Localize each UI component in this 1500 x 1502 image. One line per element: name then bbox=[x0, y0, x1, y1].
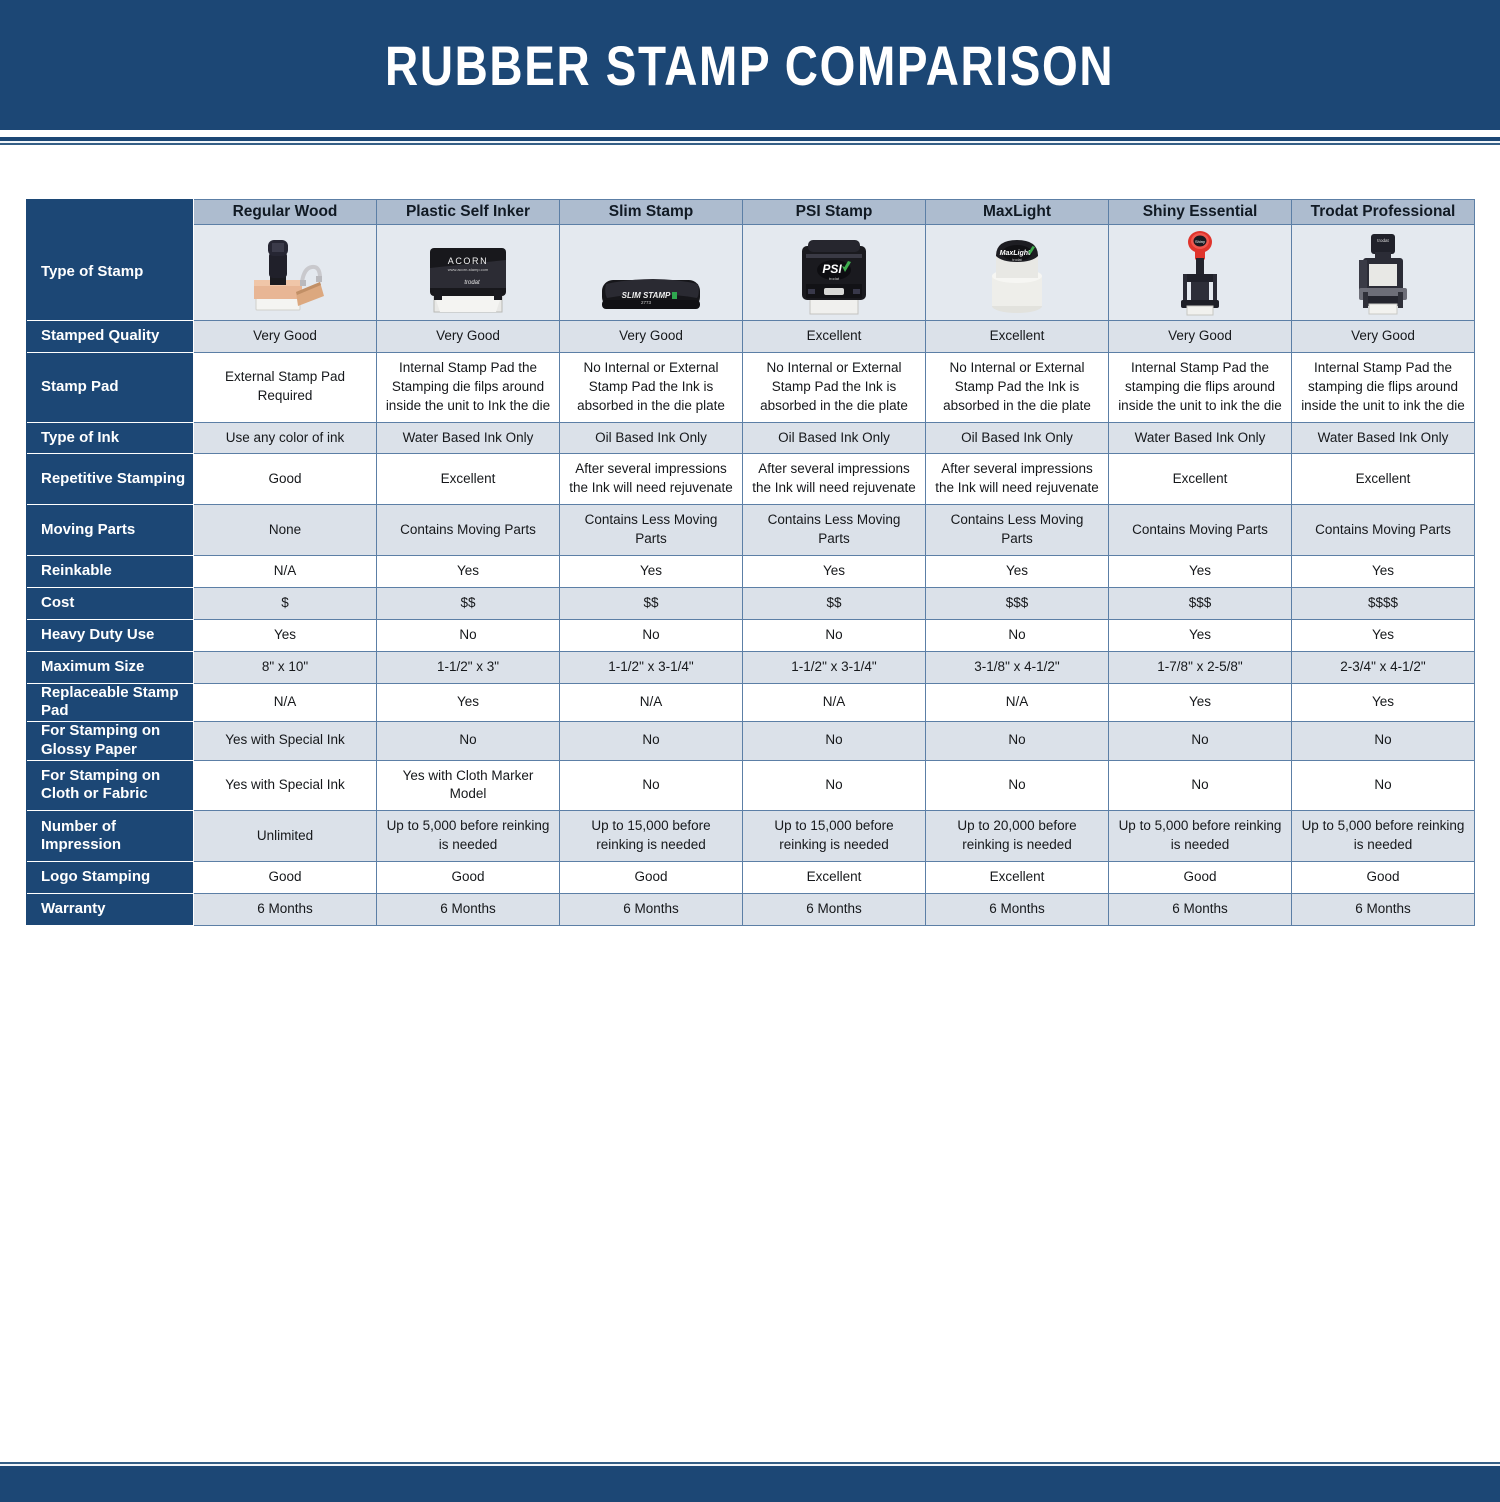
product-image-cell: ACORN www.acorn-stamp.com trodat bbox=[377, 225, 560, 321]
cell-type-of-ink-1: Water Based Ink Only bbox=[377, 422, 560, 454]
cell-for-stamping-on-cloth-or-fabric-4: No bbox=[926, 760, 1109, 811]
acorn-self-inker-icon: ACORN www.acorn-stamp.com trodat bbox=[422, 238, 514, 318]
cell-stamped-quality-6: Very Good bbox=[1292, 321, 1475, 353]
cell-for-stamping-on-glossy-paper-6: No bbox=[1292, 722, 1475, 761]
cell-for-stamping-on-glossy-paper-3: No bbox=[743, 722, 926, 761]
cell-warranty-5: 6 Months bbox=[1109, 894, 1292, 926]
maxlight-round-stamp-icon: MaxLight trodat bbox=[928, 228, 1106, 318]
acorn-self-inker-icon: ACORN www.acorn-stamp.com trodat bbox=[379, 228, 557, 318]
cell-cost-2: $$ bbox=[560, 587, 743, 619]
row-label-logo-stamping: Logo Stamping bbox=[27, 862, 194, 894]
cell-type-of-ink-6: Water Based Ink Only bbox=[1292, 422, 1475, 454]
cell-number-of-impression-6: Up to 5,000 before reinking is needed bbox=[1292, 811, 1475, 862]
table-row-number-of-impression: Number of ImpressionUnlimitedUp to 5,000… bbox=[27, 811, 1475, 862]
cell-replaceable-stamp-pad-2: N/A bbox=[560, 683, 743, 722]
cell-repetitive-stamping-3: After several impressions the Ink will n… bbox=[743, 454, 926, 505]
cell-maximum-size-1: 1-1/2" x 3" bbox=[377, 651, 560, 683]
cell-stamp-pad-5: Internal Stamp Pad the stamping die flip… bbox=[1109, 352, 1292, 422]
cell-number-of-impression-2: Up to 15,000 before reinking is needed bbox=[560, 811, 743, 862]
product-image-cell: PSI trodat bbox=[743, 225, 926, 321]
cell-number-of-impression-5: Up to 5,000 before reinking is needed bbox=[1109, 811, 1292, 862]
product-image-cell bbox=[194, 225, 377, 321]
product-image-cell: Shiny bbox=[1109, 225, 1292, 321]
cell-for-stamping-on-cloth-or-fabric-6: No bbox=[1292, 760, 1475, 811]
svg-text:www.acorn-stamp.com: www.acorn-stamp.com bbox=[448, 267, 489, 272]
product-image-cell: trodat bbox=[1292, 225, 1475, 321]
cell-warranty-0: 6 Months bbox=[194, 894, 377, 926]
table-row-for-stamping-on-glossy-paper: For Stamping on Glossy PaperYes with Spe… bbox=[27, 722, 1475, 761]
table-row-stamp-pad: Stamp PadExternal Stamp Pad RequiredInte… bbox=[27, 352, 1475, 422]
cell-repetitive-stamping-2: After several impressions the Ink will n… bbox=[560, 454, 743, 505]
table-row-logo-stamping: Logo StampingGoodGoodGoodExcellentExcell… bbox=[27, 862, 1475, 894]
row-label-stamp-pad: Stamp Pad bbox=[27, 352, 194, 422]
table-row-repetitive-stamping: Repetitive StampingGoodExcellentAfter se… bbox=[27, 454, 1475, 505]
column-header-maxlight: MaxLight bbox=[926, 200, 1109, 225]
cell-type-of-ink-3: Oil Based Ink Only bbox=[743, 422, 926, 454]
cell-logo-stamping-1: Good bbox=[377, 862, 560, 894]
cell-maximum-size-2: 1-1/2" x 3-1/4" bbox=[560, 651, 743, 683]
column-header-regular-wood: Regular Wood bbox=[194, 200, 377, 225]
row-label-type-of-stamp: Type of Stamp bbox=[27, 225, 194, 321]
cell-for-stamping-on-cloth-or-fabric-2: No bbox=[560, 760, 743, 811]
slim-stamp-icon: SLIM STAMP 2773 bbox=[596, 264, 706, 318]
cell-logo-stamping-6: Good bbox=[1292, 862, 1475, 894]
table-row-stamped-quality: Stamped QualityVery GoodVery GoodVery Go… bbox=[27, 321, 1475, 353]
cell-for-stamping-on-cloth-or-fabric-5: No bbox=[1109, 760, 1292, 811]
cell-heavy-duty-use-4: No bbox=[926, 619, 1109, 651]
cell-cost-0: $ bbox=[194, 587, 377, 619]
cell-moving-parts-1: Contains Moving Parts bbox=[377, 505, 560, 556]
table-row-cost: Cost$$$$$$$$$$$$$$$$$ bbox=[27, 587, 1475, 619]
cell-moving-parts-2: Contains Less Moving Parts bbox=[560, 505, 743, 556]
table-row-for-stamping-on-cloth-or-fabric: For Stamping on Cloth or FabricYes with … bbox=[27, 760, 1475, 811]
cell-logo-stamping-4: Excellent bbox=[926, 862, 1109, 894]
cell-cost-4: $$$ bbox=[926, 587, 1109, 619]
cell-heavy-duty-use-5: Yes bbox=[1109, 619, 1292, 651]
row-label-number-of-impression: Number of Impression bbox=[27, 811, 194, 862]
product-image-cell: SLIM STAMP 2773 bbox=[560, 225, 743, 321]
svg-text:trodat: trodat bbox=[464, 280, 480, 286]
cell-number-of-impression-0: Unlimited bbox=[194, 811, 377, 862]
svg-text:trodat: trodat bbox=[829, 276, 840, 281]
svg-text:trodat: trodat bbox=[1012, 258, 1021, 262]
table-row-warranty: Warranty6 Months6 Months6 Months6 Months… bbox=[27, 894, 1475, 926]
svg-text:2773: 2773 bbox=[641, 300, 652, 305]
cell-type-of-ink-2: Oil Based Ink Only bbox=[560, 422, 743, 454]
cell-heavy-duty-use-6: Yes bbox=[1292, 619, 1475, 651]
cell-repetitive-stamping-1: Excellent bbox=[377, 454, 560, 505]
cell-stamp-pad-1: Internal Stamp Pad the Stamping die filp… bbox=[377, 352, 560, 422]
cell-heavy-duty-use-2: No bbox=[560, 619, 743, 651]
svg-text:MaxLight: MaxLight bbox=[1000, 250, 1031, 257]
cell-maximum-size-6: 2-3/4" x 4-1/2" bbox=[1292, 651, 1475, 683]
page-footer-bar bbox=[0, 1470, 1500, 1502]
cell-maximum-size-0: 8" x 10" bbox=[194, 651, 377, 683]
table-row-moving-parts: Moving PartsNoneContains Moving PartsCon… bbox=[27, 505, 1475, 556]
cell-stamped-quality-1: Very Good bbox=[377, 321, 560, 353]
cell-for-stamping-on-cloth-or-fabric-0: Yes with Special Ink bbox=[194, 760, 377, 811]
cell-logo-stamping-2: Good bbox=[560, 862, 743, 894]
corner-header-cell bbox=[27, 200, 194, 225]
row-label-moving-parts: Moving Parts bbox=[27, 505, 194, 556]
cell-stamped-quality-5: Very Good bbox=[1109, 321, 1292, 353]
cell-replaceable-stamp-pad-6: Yes bbox=[1292, 683, 1475, 722]
svg-text:ACORN: ACORN bbox=[448, 256, 489, 266]
cell-warranty-6: 6 Months bbox=[1292, 894, 1475, 926]
shiny-essential-stamp-icon: Shiny bbox=[1169, 230, 1231, 318]
product-image-cell: MaxLight trodat bbox=[926, 225, 1109, 321]
trodat-professional-stamp-icon: trodat bbox=[1294, 228, 1472, 318]
row-label-type-of-ink: Type of Ink bbox=[27, 422, 194, 454]
stamp-comparison-table: Regular WoodPlastic Self InkerSlim Stamp… bbox=[26, 199, 1475, 926]
row-label-stamped-quality: Stamped Quality bbox=[27, 321, 194, 353]
cell-reinkable-1: Yes bbox=[377, 556, 560, 588]
cell-moving-parts-6: Contains Moving Parts bbox=[1292, 505, 1475, 556]
cell-moving-parts-5: Contains Moving Parts bbox=[1109, 505, 1292, 556]
psi-stamp-icon: PSI trodat bbox=[745, 228, 923, 318]
column-header-plastic-self-inker: Plastic Self Inker bbox=[377, 200, 560, 225]
cell-stamp-pad-2: No Internal or External Stamp Pad the In… bbox=[560, 352, 743, 422]
cell-warranty-4: 6 Months bbox=[926, 894, 1109, 926]
cell-heavy-duty-use-1: No bbox=[377, 619, 560, 651]
cell-replaceable-stamp-pad-4: N/A bbox=[926, 683, 1109, 722]
row-label-maximum-size: Maximum Size bbox=[27, 651, 194, 683]
cell-for-stamping-on-glossy-paper-4: No bbox=[926, 722, 1109, 761]
cell-moving-parts-0: None bbox=[194, 505, 377, 556]
cell-reinkable-6: Yes bbox=[1292, 556, 1475, 588]
shiny-essential-stamp-icon: Shiny bbox=[1111, 228, 1289, 318]
cell-logo-stamping-0: Good bbox=[194, 862, 377, 894]
cell-stamped-quality-2: Very Good bbox=[560, 321, 743, 353]
trodat-professional-stamp-icon: trodat bbox=[1345, 230, 1421, 318]
cell-warranty-3: 6 Months bbox=[743, 894, 926, 926]
cell-number-of-impression-1: Up to 5,000 before reinking is needed bbox=[377, 811, 560, 862]
row-label-for-stamping-on-cloth-or-fabric: For Stamping on Cloth or Fabric bbox=[27, 760, 194, 811]
cell-replaceable-stamp-pad-1: Yes bbox=[377, 683, 560, 722]
cell-maximum-size-4: 3-1/8" x 4-1/2" bbox=[926, 651, 1109, 683]
column-header-psi-stamp: PSI Stamp bbox=[743, 200, 926, 225]
cell-stamp-pad-4: No Internal or External Stamp Pad the In… bbox=[926, 352, 1109, 422]
maxlight-round-stamp-icon: MaxLight trodat bbox=[978, 232, 1056, 318]
cell-stamp-pad-3: No Internal or External Stamp Pad the In… bbox=[743, 352, 926, 422]
cell-for-stamping-on-glossy-paper-5: No bbox=[1109, 722, 1292, 761]
cell-logo-stamping-5: Good bbox=[1109, 862, 1292, 894]
cell-maximum-size-5: 1-7/8" x 2-5/8" bbox=[1109, 651, 1292, 683]
cell-maximum-size-3: 1-1/2" x 3-1/4" bbox=[743, 651, 926, 683]
header-rule-gap bbox=[0, 130, 1500, 137]
cell-cost-3: $$ bbox=[743, 587, 926, 619]
cell-reinkable-4: Yes bbox=[926, 556, 1109, 588]
cell-reinkable-2: Yes bbox=[560, 556, 743, 588]
cell-cost-1: $$ bbox=[377, 587, 560, 619]
cell-warranty-1: 6 Months bbox=[377, 894, 560, 926]
column-header-shiny-essential: Shiny Essential bbox=[1109, 200, 1292, 225]
table-row-type-of-stamp: Type of Stamp ACORN www.acorn-stamp.com … bbox=[27, 225, 1475, 321]
cell-replaceable-stamp-pad-5: Yes bbox=[1109, 683, 1292, 722]
cell-stamped-quality-4: Excellent bbox=[926, 321, 1109, 353]
page-header-bar: RUBBER STAMP COMPARISON bbox=[0, 0, 1500, 130]
slim-stamp-icon: SLIM STAMP 2773 bbox=[562, 228, 740, 318]
table-row-replaceable-stamp-pad: Replaceable Stamp PadN/AYesN/AN/AN/AYesY… bbox=[27, 683, 1475, 722]
cell-replaceable-stamp-pad-0: N/A bbox=[194, 683, 377, 722]
cell-repetitive-stamping-0: Good bbox=[194, 454, 377, 505]
cell-moving-parts-4: Contains Less Moving Parts bbox=[926, 505, 1109, 556]
cell-for-stamping-on-glossy-paper-1: No bbox=[377, 722, 560, 761]
row-label-repetitive-stamping: Repetitive Stamping bbox=[27, 454, 194, 505]
cell-repetitive-stamping-6: Excellent bbox=[1292, 454, 1475, 505]
page-title: RUBBER STAMP COMPARISON bbox=[385, 33, 1114, 98]
cell-stamp-pad-0: External Stamp Pad Required bbox=[194, 352, 377, 422]
cell-stamp-pad-6: Internal Stamp Pad the stamping die flip… bbox=[1292, 352, 1475, 422]
cell-replaceable-stamp-pad-3: N/A bbox=[743, 683, 926, 722]
svg-text:SLIM STAMP: SLIM STAMP bbox=[622, 291, 671, 300]
wood-handle-stamp-icon bbox=[244, 232, 326, 318]
cell-stamped-quality-3: Excellent bbox=[743, 321, 926, 353]
svg-text:Shiny: Shiny bbox=[1195, 239, 1205, 244]
table-header-row: Regular WoodPlastic Self InkerSlim Stamp… bbox=[27, 200, 1475, 225]
cell-reinkable-5: Yes bbox=[1109, 556, 1292, 588]
table-row-type-of-ink: Type of InkUse any color of inkWater Bas… bbox=[27, 422, 1475, 454]
row-label-reinkable: Reinkable bbox=[27, 556, 194, 588]
svg-text:PSI: PSI bbox=[822, 262, 842, 276]
column-header-slim-stamp: Slim Stamp bbox=[560, 200, 743, 225]
cell-cost-5: $$$ bbox=[1109, 587, 1292, 619]
column-header-trodat-professional: Trodat Professional bbox=[1292, 200, 1475, 225]
psi-stamp-icon: PSI trodat bbox=[794, 234, 874, 318]
cell-type-of-ink-5: Water Based Ink Only bbox=[1109, 422, 1292, 454]
cell-for-stamping-on-glossy-paper-2: No bbox=[560, 722, 743, 761]
row-label-warranty: Warranty bbox=[27, 894, 194, 926]
cell-type-of-ink-0: Use any color of ink bbox=[194, 422, 377, 454]
table-row-heavy-duty-use: Heavy Duty UseYesNoNoNoNoYesYes bbox=[27, 619, 1475, 651]
cell-number-of-impression-3: Up to 15,000 before reinking is needed bbox=[743, 811, 926, 862]
svg-text:trodat: trodat bbox=[1377, 238, 1389, 243]
cell-for-stamping-on-cloth-or-fabric-3: No bbox=[743, 760, 926, 811]
cell-moving-parts-3: Contains Less Moving Parts bbox=[743, 505, 926, 556]
row-label-cost: Cost bbox=[27, 587, 194, 619]
cell-reinkable-3: Yes bbox=[743, 556, 926, 588]
cell-logo-stamping-3: Excellent bbox=[743, 862, 926, 894]
cell-stamped-quality-0: Very Good bbox=[194, 321, 377, 353]
cell-for-stamping-on-cloth-or-fabric-1: Yes with Cloth Marker Model bbox=[377, 760, 560, 811]
row-label-heavy-duty-use: Heavy Duty Use bbox=[27, 619, 194, 651]
cell-heavy-duty-use-3: No bbox=[743, 619, 926, 651]
cell-repetitive-stamping-4: After several impressions the Ink will n… bbox=[926, 454, 1109, 505]
cell-cost-6: $$$$ bbox=[1292, 587, 1475, 619]
row-label-replaceable-stamp-pad: Replaceable Stamp Pad bbox=[27, 683, 194, 722]
table-row-reinkable: ReinkableN/AYesYesYesYesYesYes bbox=[27, 556, 1475, 588]
cell-type-of-ink-4: Oil Based Ink Only bbox=[926, 422, 1109, 454]
cell-reinkable-0: N/A bbox=[194, 556, 377, 588]
cell-number-of-impression-4: Up to 20,000 before reinking is needed bbox=[926, 811, 1109, 862]
cell-heavy-duty-use-0: Yes bbox=[194, 619, 377, 651]
wood-handle-stamp-icon bbox=[196, 228, 374, 318]
cell-warranty-2: 6 Months bbox=[560, 894, 743, 926]
cell-for-stamping-on-glossy-paper-0: Yes with Special Ink bbox=[194, 722, 377, 761]
table-row-maximum-size: Maximum Size8" x 10"1-1/2" x 3"1-1/2" x … bbox=[27, 651, 1475, 683]
cell-repetitive-stamping-5: Excellent bbox=[1109, 454, 1292, 505]
row-label-for-stamping-on-glossy-paper: For Stamping on Glossy Paper bbox=[27, 722, 194, 761]
comparison-sheet: Regular WoodPlastic Self InkerSlim Stamp… bbox=[0, 145, 1500, 1462]
